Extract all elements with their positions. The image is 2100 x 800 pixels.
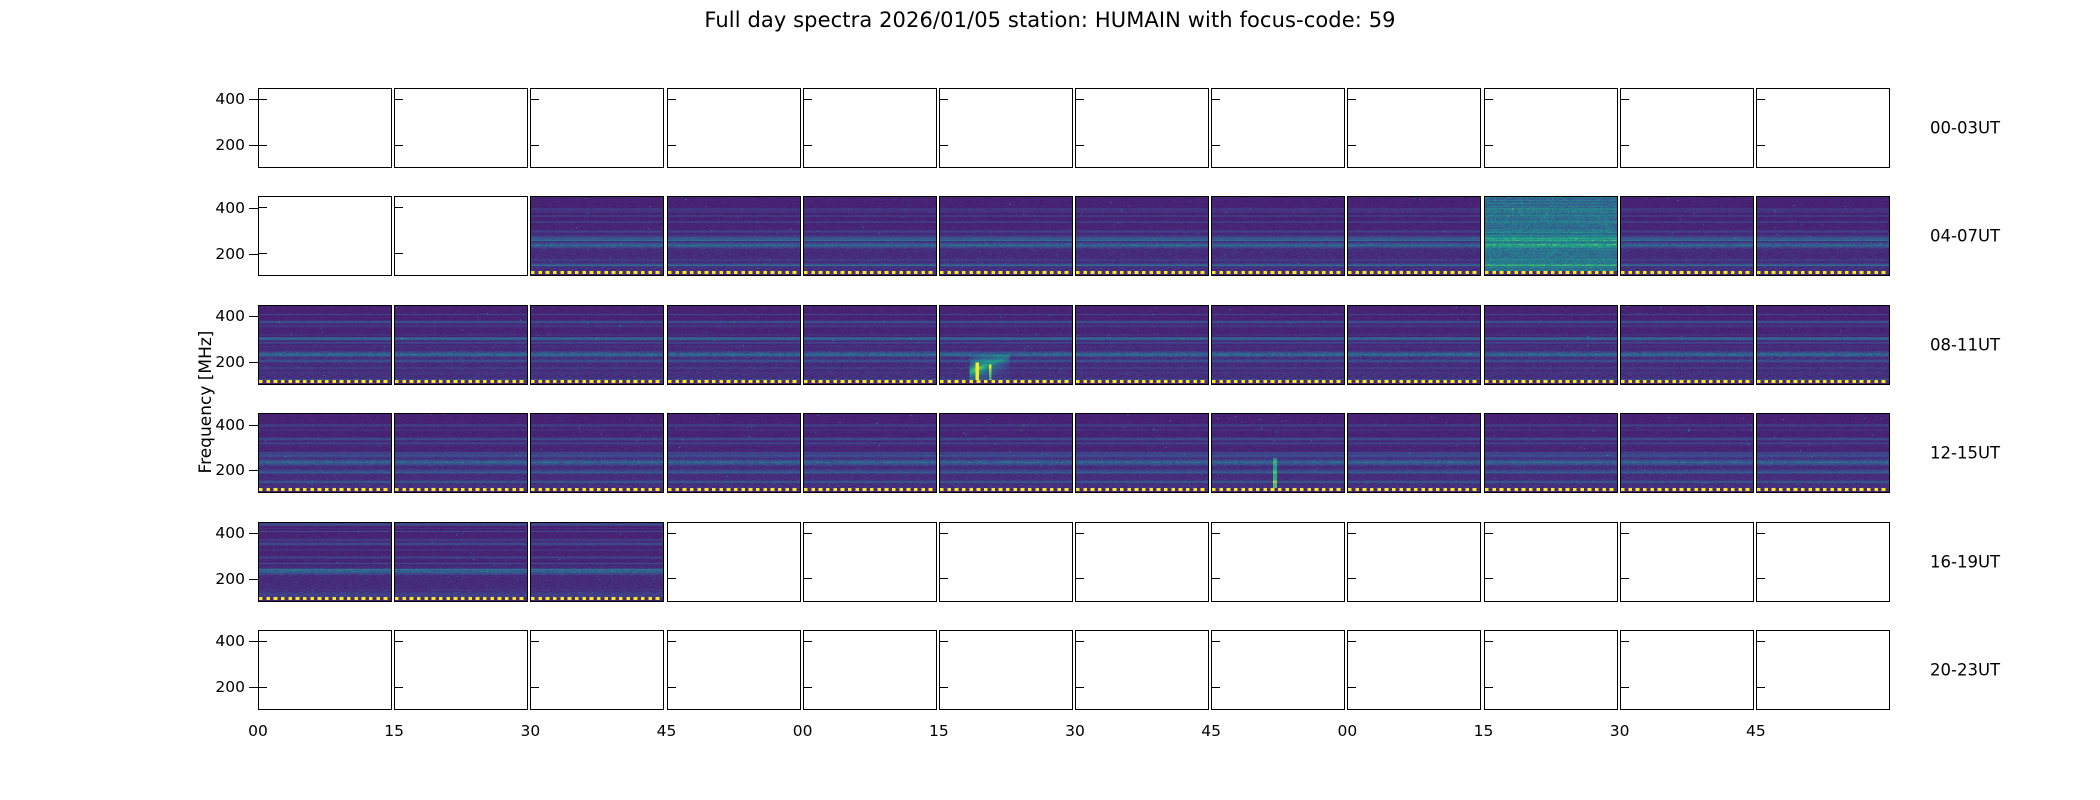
empty-panel[interactable]	[394, 196, 528, 276]
spectrogram-image	[1757, 414, 1889, 492]
empty-panel[interactable]	[939, 88, 1073, 168]
y-tick-label: 400	[215, 307, 245, 325]
x-tick-mark	[1621, 709, 1622, 710]
spectrogram-panel[interactable]	[394, 305, 528, 385]
y-tick-mark	[249, 99, 258, 100]
y-tick-inner	[1485, 145, 1493, 146]
spectrogram-panel[interactable]	[1620, 413, 1754, 493]
y-tick-inner	[259, 145, 267, 146]
spectrogram-panel[interactable]	[258, 305, 392, 385]
spectrogram-row: 20040008-11UT	[258, 305, 1890, 385]
x-tick-label: 00	[1337, 722, 1357, 740]
empty-panel[interactable]	[1211, 88, 1345, 168]
y-tick-inner	[804, 145, 812, 146]
spectrogram-image	[804, 306, 936, 384]
spectrogram-image	[259, 306, 391, 384]
spectrogram-panel[interactable]	[939, 413, 1073, 493]
y-tick-inner	[259, 253, 267, 254]
x-tick-mark	[395, 709, 396, 710]
spectrogram-image	[940, 197, 1072, 275]
y-tick-inner	[804, 578, 812, 579]
spectrogram-panel[interactable]	[1347, 305, 1481, 385]
y-tick-inner	[1621, 687, 1629, 688]
x-tick-mark	[1212, 709, 1213, 710]
spectrogram-image	[1485, 414, 1617, 492]
spectrogram-panel[interactable]	[1075, 413, 1209, 493]
spectrogram-row: 20040000-03UT	[258, 88, 1890, 168]
spectrogram-panel[interactable]	[1211, 196, 1345, 276]
spectrogram-image	[1212, 306, 1344, 384]
y-tick-mark	[249, 362, 258, 363]
spectrogram-panel[interactable]	[1347, 413, 1481, 493]
empty-panel[interactable]	[1756, 88, 1890, 168]
y-tick-mark	[249, 470, 258, 471]
spectrogram-panel[interactable]	[1484, 196, 1618, 276]
spectrogram-panel[interactable]	[394, 413, 528, 493]
spectrogram-image	[1348, 197, 1480, 275]
spectrogram-panel[interactable]	[1484, 305, 1618, 385]
spectrogram-row: 20040012-15UT	[258, 413, 1890, 493]
spectrogram-panel[interactable]	[530, 305, 664, 385]
empty-panel[interactable]	[258, 88, 392, 168]
spectrogram-image	[804, 414, 936, 492]
spectrogram-row: 20040020-23UT001530450015304500153045	[258, 630, 1890, 710]
y-tick-inner	[1757, 641, 1765, 642]
spectrogram-panel[interactable]	[1211, 305, 1345, 385]
row-label-12-15ut: 12-15UT	[1930, 444, 2000, 463]
x-tick-mark	[259, 709, 260, 710]
x-tick-mark	[531, 709, 532, 710]
y-tick-inner	[1621, 533, 1629, 534]
empty-panel[interactable]	[1211, 522, 1345, 602]
y-tick-inner	[531, 99, 539, 100]
y-tick-inner	[668, 578, 676, 579]
x-tick-label: 15	[929, 722, 949, 740]
y-tick-mark	[249, 425, 258, 426]
y-tick-inner	[804, 641, 812, 642]
spectrogram-image	[1212, 414, 1344, 492]
y-tick-inner	[940, 533, 948, 534]
y-tick-inner	[531, 687, 539, 688]
spectrogram-row: 20040004-07UT	[258, 196, 1890, 276]
y-tick-mark	[249, 579, 258, 580]
empty-panel[interactable]	[803, 522, 937, 602]
y-tick-inner	[395, 145, 403, 146]
y-tick-inner	[1757, 99, 1765, 100]
empty-panel[interactable]	[1484, 88, 1618, 168]
y-tick-mark	[249, 145, 258, 146]
spectrogram-panel[interactable]	[530, 413, 664, 493]
row-label-16-19ut: 16-19UT	[1930, 552, 2000, 571]
spectrogram-image	[1212, 197, 1344, 275]
x-tick-label: 00	[248, 722, 268, 740]
spectrogram-image	[395, 306, 527, 384]
y-tick-inner	[1348, 533, 1356, 534]
y-tick-inner	[1076, 578, 1084, 579]
x-tick-label: 00	[793, 722, 813, 740]
x-tick-label: 45	[1201, 722, 1221, 740]
spectrogram-image	[531, 523, 663, 601]
spectrogram-panel[interactable]	[667, 196, 801, 276]
y-tick-label: 200	[215, 353, 245, 371]
spectrogram-panel[interactable]	[1347, 196, 1481, 276]
empty-panel[interactable]	[1075, 630, 1209, 710]
y-tick-inner	[1348, 687, 1356, 688]
empty-panel[interactable]	[1211, 630, 1345, 710]
spectrogram-image	[531, 197, 663, 275]
y-tick-inner	[1621, 145, 1629, 146]
y-tick-inner	[668, 641, 676, 642]
y-tick-inner	[395, 99, 403, 100]
empty-panel[interactable]	[1075, 88, 1209, 168]
y-tick-label: 200	[215, 570, 245, 588]
spectrogram-image	[259, 523, 391, 601]
x-tick-mark	[668, 709, 669, 710]
y-tick-inner	[940, 99, 948, 100]
spectrogram-panel[interactable]	[1211, 413, 1345, 493]
spectrogram-panel[interactable]	[803, 196, 937, 276]
spectrogram-panel[interactable]	[1756, 196, 1890, 276]
y-tick-inner	[1757, 533, 1765, 534]
y-tick-inner	[259, 207, 267, 208]
y-tick-inner	[804, 99, 812, 100]
y-tick-inner	[1485, 687, 1493, 688]
empty-panel[interactable]	[1484, 522, 1618, 602]
spectrogram-panel[interactable]	[667, 413, 801, 493]
y-tick-inner	[1485, 99, 1493, 100]
y-tick-mark	[249, 687, 258, 688]
y-tick-inner	[1757, 578, 1765, 579]
row-label-08-11ut: 08-11UT	[1930, 335, 2000, 354]
y-tick-inner	[1076, 145, 1084, 146]
empty-panel[interactable]	[1756, 630, 1890, 710]
spectrogram-row: 20040016-19UT	[258, 522, 1890, 602]
empty-panel[interactable]	[803, 630, 937, 710]
y-tick-inner	[395, 253, 403, 254]
spectrogram-image	[1621, 306, 1753, 384]
y-tick-inner	[395, 207, 403, 208]
empty-panel[interactable]	[1347, 630, 1481, 710]
y-tick-label: 200	[215, 678, 245, 696]
x-tick-label: 45	[1746, 722, 1766, 740]
spectrogram-panel[interactable]	[939, 305, 1073, 385]
empty-panel[interactable]	[1484, 630, 1618, 710]
spectrogram-image	[668, 414, 800, 492]
y-tick-inner	[1212, 145, 1220, 146]
y-tick-inner	[1485, 641, 1493, 642]
y-tick-inner	[1348, 641, 1356, 642]
y-tick-inner	[1348, 145, 1356, 146]
y-tick-mark	[249, 533, 258, 534]
y-tick-mark	[249, 254, 258, 255]
x-tick-label: 45	[657, 722, 677, 740]
spectrogram-panel[interactable]	[939, 196, 1073, 276]
y-tick-inner	[1348, 99, 1356, 100]
x-tick-mark	[1348, 709, 1349, 710]
x-tick-label: 30	[520, 722, 540, 740]
spectrogram-image	[395, 414, 527, 492]
y-tick-inner	[1076, 99, 1084, 100]
y-tick-label: 400	[215, 416, 245, 434]
empty-panel[interactable]	[1756, 522, 1890, 602]
spectrogram-image	[668, 306, 800, 384]
y-tick-inner	[940, 641, 948, 642]
y-tick-inner	[395, 687, 403, 688]
y-tick-label: 400	[215, 632, 245, 650]
spectrogram-panel[interactable]	[258, 522, 392, 602]
spectrogram-panel[interactable]	[1620, 305, 1754, 385]
empty-panel[interactable]	[258, 630, 392, 710]
empty-panel[interactable]	[530, 630, 664, 710]
x-tick-mark	[804, 709, 805, 710]
y-tick-inner	[668, 533, 676, 534]
row-label-20-23ut: 20-23UT	[1930, 661, 2000, 680]
spectrogram-panel[interactable]	[530, 196, 664, 276]
empty-panel[interactable]	[1620, 522, 1754, 602]
row-label-04-07ut: 04-07UT	[1930, 227, 2000, 246]
y-tick-inner	[940, 578, 948, 579]
y-tick-mark	[249, 208, 258, 209]
empty-panel[interactable]	[1347, 88, 1481, 168]
spectrogram-image	[940, 414, 1072, 492]
spectrogram-image	[1076, 414, 1208, 492]
empty-panel[interactable]	[1347, 522, 1481, 602]
y-tick-inner	[804, 687, 812, 688]
empty-panel[interactable]	[939, 630, 1073, 710]
x-tick-label: 30	[1610, 722, 1630, 740]
y-tick-inner	[1621, 99, 1629, 100]
spectrogram-panel[interactable]	[803, 413, 937, 493]
y-tick-inner	[940, 687, 948, 688]
empty-panel[interactable]	[394, 88, 528, 168]
row-label-00-03ut: 00-03UT	[1930, 119, 2000, 138]
x-tick-label: 15	[384, 722, 404, 740]
spectrogram-image	[1757, 197, 1889, 275]
empty-panel[interactable]	[667, 88, 801, 168]
x-tick-mark	[1485, 709, 1486, 710]
y-tick-label: 200	[215, 136, 245, 154]
y-tick-inner	[1076, 641, 1084, 642]
y-tick-inner	[531, 145, 539, 146]
y-tick-inner	[1212, 578, 1220, 579]
y-tick-inner	[259, 99, 267, 100]
y-tick-inner	[1076, 687, 1084, 688]
spectrogram-image	[1485, 306, 1617, 384]
y-tick-inner	[1485, 533, 1493, 534]
spectrogram-panel[interactable]	[1075, 305, 1209, 385]
spectrogram-grid: 20040000-03UT20040004-07UT20040008-11UT2…	[258, 88, 1890, 710]
x-tick-label: 15	[1474, 722, 1494, 740]
x-tick-mark	[1757, 709, 1758, 710]
empty-panel[interactable]	[394, 630, 528, 710]
y-tick-label: 200	[215, 461, 245, 479]
spectrogram-panel[interactable]	[258, 413, 392, 493]
spectrogram-image	[668, 197, 800, 275]
spectrogram-image	[1348, 414, 1480, 492]
y-tick-inner	[668, 145, 676, 146]
empty-panel[interactable]	[258, 196, 392, 276]
y-tick-inner	[1212, 687, 1220, 688]
spectrogram-panel[interactable]	[1484, 413, 1618, 493]
spectrogram-image	[804, 197, 936, 275]
y-tick-inner	[804, 533, 812, 534]
spectrogram-image	[531, 306, 663, 384]
y-tick-inner	[1485, 578, 1493, 579]
y-tick-label: 200	[215, 245, 245, 263]
spectrogram-panel[interactable]	[1756, 305, 1890, 385]
spectrogram-image	[1757, 306, 1889, 384]
empty-panel[interactable]	[1075, 522, 1209, 602]
y-tick-label: 400	[215, 90, 245, 108]
spectrogram-panel[interactable]	[667, 305, 801, 385]
y-tick-inner	[1076, 533, 1084, 534]
empty-panel[interactable]	[1620, 630, 1754, 710]
x-tick-mark	[940, 709, 941, 710]
spectrogram-image	[259, 414, 391, 492]
y-tick-label: 400	[215, 199, 245, 217]
y-tick-inner	[1212, 533, 1220, 534]
empty-panel[interactable]	[1620, 88, 1754, 168]
y-tick-mark	[249, 641, 258, 642]
x-tick-label: 30	[1065, 722, 1085, 740]
y-tick-inner	[1212, 99, 1220, 100]
y-tick-inner	[1621, 578, 1629, 579]
y-tick-inner	[259, 687, 267, 688]
y-tick-inner	[1348, 578, 1356, 579]
spectrogram-image	[1621, 197, 1753, 275]
figure-title: Full day spectra 2026/01/05 station: HUM…	[0, 8, 2100, 32]
y-tick-inner	[1621, 641, 1629, 642]
spectrogram-image	[1076, 306, 1208, 384]
spectrogram-image	[1485, 197, 1617, 275]
spectrogram-panel[interactable]	[394, 522, 528, 602]
y-tick-inner	[940, 145, 948, 146]
spectrogram-image	[531, 414, 663, 492]
spectrogram-image	[395, 523, 527, 601]
empty-panel[interactable]	[803, 88, 937, 168]
y-tick-inner	[668, 687, 676, 688]
spectrogram-image	[1621, 414, 1753, 492]
spectrogram-image	[1348, 306, 1480, 384]
y-tick-inner	[395, 641, 403, 642]
spectrogram-image	[940, 306, 1072, 384]
empty-panel[interactable]	[667, 522, 801, 602]
y-tick-inner	[668, 99, 676, 100]
spectrogram-panel[interactable]	[803, 305, 937, 385]
x-tick-mark	[1076, 709, 1077, 710]
empty-panel[interactable]	[939, 522, 1073, 602]
y-tick-inner	[259, 641, 267, 642]
y-tick-mark	[249, 316, 258, 317]
y-axis-label: Frequency [MHz]	[196, 322, 216, 482]
figure-root: Full day spectra 2026/01/05 station: HUM…	[0, 0, 2100, 800]
empty-panel[interactable]	[530, 88, 664, 168]
empty-panel[interactable]	[667, 630, 801, 710]
y-tick-inner	[1212, 641, 1220, 642]
y-tick-label: 400	[215, 524, 245, 542]
spectrogram-panel[interactable]	[1620, 196, 1754, 276]
y-tick-inner	[1757, 145, 1765, 146]
spectrogram-panel[interactable]	[1756, 413, 1890, 493]
y-tick-inner	[531, 641, 539, 642]
spectrogram-panel[interactable]	[1075, 196, 1209, 276]
spectrogram-image	[1076, 197, 1208, 275]
spectrogram-panel[interactable]	[530, 522, 664, 602]
y-tick-inner	[1757, 687, 1765, 688]
